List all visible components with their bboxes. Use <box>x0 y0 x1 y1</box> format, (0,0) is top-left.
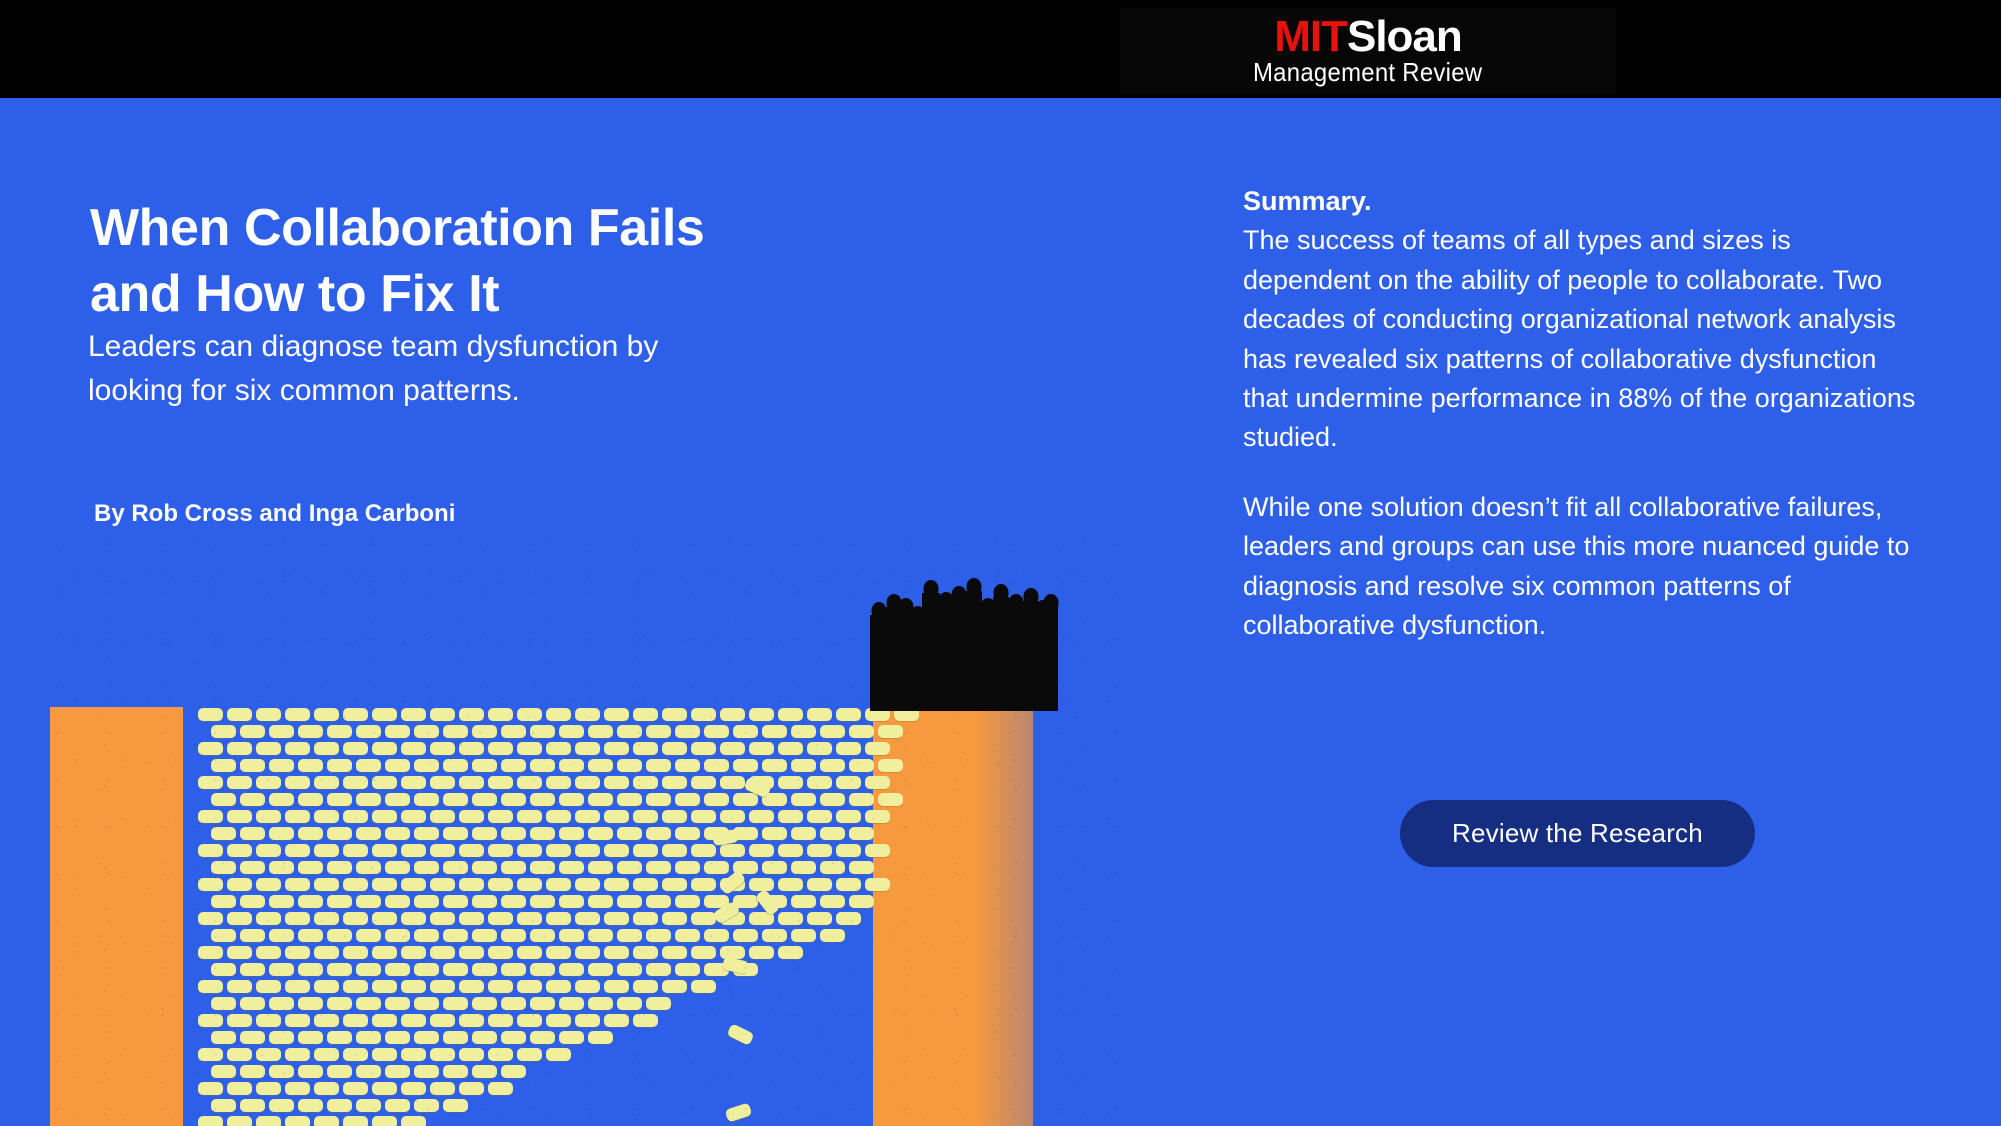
brick <box>762 759 787 772</box>
brick <box>459 810 484 823</box>
brick <box>501 827 526 840</box>
brick <box>443 1065 468 1078</box>
brick <box>356 759 381 772</box>
brick <box>298 1065 323 1078</box>
brick <box>646 963 671 976</box>
brick <box>343 946 368 959</box>
brick <box>575 946 600 959</box>
brick <box>865 776 890 789</box>
brick <box>646 895 671 908</box>
brick <box>559 929 584 942</box>
brick <box>372 1014 397 1027</box>
brick <box>372 912 397 925</box>
brick <box>198 1048 223 1061</box>
brick <box>414 895 439 908</box>
brick <box>559 997 584 1010</box>
brick <box>820 793 845 806</box>
brick <box>501 725 526 738</box>
brick <box>343 776 368 789</box>
brick <box>269 725 294 738</box>
brick <box>227 912 252 925</box>
summary-paragraph-2: While one solution doesn’t fit all colla… <box>1243 488 1923 646</box>
logo-wordmark: MITSloan <box>1274 16 1462 58</box>
brick <box>285 776 310 789</box>
brick <box>662 810 687 823</box>
brick <box>617 929 642 942</box>
brick <box>675 725 700 738</box>
brick <box>343 1048 368 1061</box>
brick <box>546 810 571 823</box>
brick <box>530 793 555 806</box>
brick <box>820 725 845 738</box>
brick <box>401 742 426 755</box>
brick <box>559 827 584 840</box>
brick <box>414 929 439 942</box>
brick <box>472 1065 497 1078</box>
brick <box>356 997 381 1010</box>
brick <box>749 708 774 721</box>
brick <box>443 861 468 874</box>
brick <box>401 1082 426 1095</box>
brick <box>459 742 484 755</box>
mit-sloan-management-review-logo[interactable]: MITSloan Management Review <box>1120 8 1616 94</box>
brick <box>240 1031 265 1044</box>
person-silhouette <box>870 615 887 711</box>
brick <box>343 878 368 891</box>
brick <box>849 861 874 874</box>
brick <box>343 980 368 993</box>
brick <box>546 878 571 891</box>
brick <box>472 759 497 772</box>
brick <box>385 963 410 976</box>
brick <box>430 708 455 721</box>
brick <box>546 946 571 959</box>
review-the-research-button[interactable]: Review the Research <box>1400 800 1755 867</box>
brick <box>849 827 874 840</box>
brick <box>269 1031 294 1044</box>
brick <box>778 776 803 789</box>
brick <box>878 759 903 772</box>
brick <box>240 1065 265 1078</box>
page-title: When Collaboration Fails and How to Fix … <box>90 195 850 328</box>
brick <box>633 1014 658 1027</box>
silhouette-shoulders <box>899 611 913 625</box>
brick <box>414 861 439 874</box>
brick <box>704 793 729 806</box>
brick <box>372 776 397 789</box>
brick <box>662 742 687 755</box>
brick <box>459 708 484 721</box>
brick <box>211 725 236 738</box>
silhouette-shoulders <box>870 615 887 629</box>
brick <box>256 810 281 823</box>
brick <box>517 776 542 789</box>
brick <box>314 1082 339 1095</box>
brick <box>575 844 600 857</box>
brick <box>227 742 252 755</box>
brick <box>314 946 339 959</box>
brick <box>530 861 555 874</box>
brick <box>488 810 513 823</box>
brick <box>211 759 236 772</box>
brick <box>704 861 729 874</box>
brick <box>662 946 687 959</box>
brick <box>459 1014 484 1027</box>
person-silhouette <box>1022 601 1039 711</box>
brick <box>430 742 455 755</box>
brick <box>807 878 832 891</box>
brick <box>285 946 310 959</box>
brick <box>633 980 658 993</box>
brick <box>414 759 439 772</box>
brick <box>443 725 468 738</box>
brick <box>227 708 252 721</box>
brick <box>285 1116 310 1126</box>
brick <box>633 742 658 755</box>
brick <box>733 929 758 942</box>
brick <box>588 861 613 874</box>
brick <box>385 1065 410 1078</box>
brick <box>314 1048 339 1061</box>
brick <box>314 912 339 925</box>
brick <box>227 980 252 993</box>
brick <box>443 1031 468 1044</box>
brick <box>617 895 642 908</box>
brick <box>256 1014 281 1027</box>
brick <box>256 742 281 755</box>
brick <box>327 895 352 908</box>
brick <box>430 946 455 959</box>
brick <box>807 776 832 789</box>
brick <box>240 827 265 840</box>
brick <box>356 1031 381 1044</box>
brick <box>198 844 223 857</box>
brick <box>372 946 397 959</box>
brick <box>443 1099 468 1112</box>
brick <box>807 708 832 721</box>
brick <box>865 844 890 857</box>
brick <box>488 776 513 789</box>
brick <box>414 827 439 840</box>
brick <box>240 725 265 738</box>
brick <box>517 1014 542 1027</box>
brick <box>198 912 223 925</box>
brick <box>836 878 861 891</box>
brick <box>588 1031 613 1044</box>
brick <box>356 1099 381 1112</box>
brick <box>256 1048 281 1061</box>
brick <box>733 725 758 738</box>
brick <box>865 878 890 891</box>
brick <box>401 844 426 857</box>
brick <box>807 844 832 857</box>
brick <box>662 878 687 891</box>
brick <box>575 742 600 755</box>
brick <box>285 742 310 755</box>
brick <box>720 810 745 823</box>
brick <box>720 776 745 789</box>
brick <box>472 793 497 806</box>
brick <box>240 963 265 976</box>
brick <box>211 929 236 942</box>
brick <box>778 912 803 925</box>
brick <box>849 895 874 908</box>
brick <box>488 946 513 959</box>
brick <box>401 776 426 789</box>
brick <box>269 759 294 772</box>
article-deck: Leaders can diagnose team dysfunction by… <box>88 325 788 414</box>
brick <box>256 1116 281 1126</box>
brick <box>211 1031 236 1044</box>
brick <box>401 980 426 993</box>
summary-label: Summary. <box>1243 182 1923 221</box>
silhouette-shoulders <box>1022 601 1039 615</box>
brick <box>343 1014 368 1027</box>
brick <box>488 1082 513 1095</box>
silhouette-shoulders <box>938 605 953 619</box>
brick <box>733 793 758 806</box>
brick <box>575 912 600 925</box>
silhouette-shoulders <box>1008 607 1023 621</box>
brick <box>791 759 816 772</box>
brick <box>459 878 484 891</box>
brick <box>791 793 816 806</box>
brick <box>327 759 352 772</box>
brick <box>227 776 252 789</box>
brick <box>269 997 294 1010</box>
brick <box>575 878 600 891</box>
brick <box>430 1014 455 1027</box>
brick <box>720 742 745 755</box>
brick <box>385 759 410 772</box>
brick <box>443 793 468 806</box>
brick <box>836 708 861 721</box>
brick <box>298 793 323 806</box>
article-summary: Summary. The success of teams of all typ… <box>1243 182 1923 645</box>
brick <box>198 708 223 721</box>
brick <box>488 844 513 857</box>
brick <box>778 708 803 721</box>
brick <box>343 742 368 755</box>
brick <box>343 810 368 823</box>
brick <box>227 946 252 959</box>
brick <box>198 878 223 891</box>
brick <box>878 725 903 738</box>
brick <box>617 861 642 874</box>
brick <box>298 1099 323 1112</box>
brick <box>778 878 803 891</box>
brick <box>530 759 555 772</box>
summary-spacer <box>1243 458 1923 488</box>
brick <box>633 912 658 925</box>
brick <box>401 1116 426 1126</box>
brick <box>269 1099 294 1112</box>
brick <box>517 708 542 721</box>
brick <box>691 810 716 823</box>
brick <box>501 793 526 806</box>
brick <box>704 759 729 772</box>
brick <box>314 1014 339 1027</box>
brick <box>269 827 294 840</box>
brick <box>604 844 629 857</box>
brick <box>501 1031 526 1044</box>
person-silhouette <box>1044 607 1058 711</box>
brick <box>298 827 323 840</box>
brick <box>778 844 803 857</box>
brick <box>501 895 526 908</box>
brick <box>343 912 368 925</box>
brick <box>372 1116 397 1126</box>
brick <box>878 793 903 806</box>
brick <box>443 997 468 1010</box>
site-header: MITSloan Management Review <box>0 0 2001 98</box>
silhouette-shoulders <box>965 591 982 605</box>
brick <box>343 844 368 857</box>
brick <box>546 1014 571 1027</box>
brick <box>517 878 542 891</box>
brick <box>472 827 497 840</box>
hero-illustration <box>50 531 1120 1126</box>
brick <box>372 844 397 857</box>
brick <box>356 861 381 874</box>
brick <box>430 844 455 857</box>
brick <box>604 980 629 993</box>
brick <box>517 810 542 823</box>
brick <box>356 827 381 840</box>
brick <box>227 1116 252 1126</box>
person-silhouette <box>899 611 913 711</box>
brick <box>414 1099 439 1112</box>
brick <box>691 912 716 925</box>
brick <box>472 997 497 1010</box>
brick <box>488 1014 513 1027</box>
brick <box>778 810 803 823</box>
brick <box>285 1082 310 1095</box>
brick <box>430 776 455 789</box>
logo-sloan-text: Sloan <box>1347 12 1462 61</box>
brick <box>443 929 468 942</box>
brick <box>414 1031 439 1044</box>
brick <box>443 827 468 840</box>
brick <box>211 1099 236 1112</box>
brick <box>646 929 671 942</box>
brick <box>501 929 526 942</box>
brick <box>849 759 874 772</box>
brick <box>749 742 774 755</box>
brick <box>530 963 555 976</box>
brick <box>356 793 381 806</box>
brick <box>501 963 526 976</box>
brick <box>198 1014 223 1027</box>
brick <box>443 895 468 908</box>
brick <box>546 742 571 755</box>
brick <box>327 1099 352 1112</box>
brick <box>675 827 700 840</box>
brick <box>749 844 774 857</box>
brick <box>240 895 265 908</box>
brick <box>749 878 774 891</box>
brick <box>849 725 874 738</box>
brick <box>356 725 381 738</box>
brick <box>269 793 294 806</box>
brick <box>401 946 426 959</box>
brick <box>588 759 613 772</box>
cta-container: Review the Research <box>1400 800 1755 867</box>
brick <box>517 742 542 755</box>
brick <box>327 725 352 738</box>
brick <box>327 1065 352 1078</box>
brick <box>633 810 658 823</box>
brick <box>327 997 352 1010</box>
brick <box>356 895 381 908</box>
brick <box>211 895 236 908</box>
brick <box>488 912 513 925</box>
brick <box>762 725 787 738</box>
brick <box>604 810 629 823</box>
brick <box>327 1031 352 1044</box>
brick <box>401 1014 426 1027</box>
brick <box>459 980 484 993</box>
brick <box>546 1048 571 1061</box>
brick <box>414 793 439 806</box>
brick <box>559 725 584 738</box>
brick <box>501 1065 526 1078</box>
brick <box>256 1082 281 1095</box>
brick <box>211 997 236 1010</box>
brick <box>762 861 787 874</box>
brick <box>401 878 426 891</box>
brick <box>211 827 236 840</box>
brick <box>575 1014 600 1027</box>
brick <box>530 929 555 942</box>
brick <box>385 793 410 806</box>
brick <box>198 946 223 959</box>
brick <box>488 742 513 755</box>
brick <box>675 895 700 908</box>
brick <box>385 827 410 840</box>
brick <box>588 929 613 942</box>
deck-line-2: looking for six common patterns. <box>88 374 520 407</box>
brick <box>617 725 642 738</box>
brick <box>472 725 497 738</box>
brick <box>749 810 774 823</box>
brick <box>198 1116 223 1126</box>
brick <box>285 878 310 891</box>
brick <box>791 861 816 874</box>
brick <box>820 827 845 840</box>
brick <box>517 946 542 959</box>
brick <box>198 1082 223 1095</box>
brick <box>459 844 484 857</box>
brick <box>285 810 310 823</box>
brick <box>778 946 803 959</box>
brick <box>401 1048 426 1061</box>
brick <box>385 1099 410 1112</box>
brick <box>546 912 571 925</box>
brick <box>269 1065 294 1078</box>
brick <box>633 844 658 857</box>
brick <box>820 895 845 908</box>
brick <box>662 980 687 993</box>
brick <box>820 929 845 942</box>
article-byline: By Rob Cross and Inga Carboni <box>94 500 455 529</box>
brick <box>285 912 310 925</box>
brick <box>314 810 339 823</box>
brick <box>820 861 845 874</box>
brick <box>372 878 397 891</box>
brick <box>385 1031 410 1044</box>
brick <box>314 1116 339 1126</box>
